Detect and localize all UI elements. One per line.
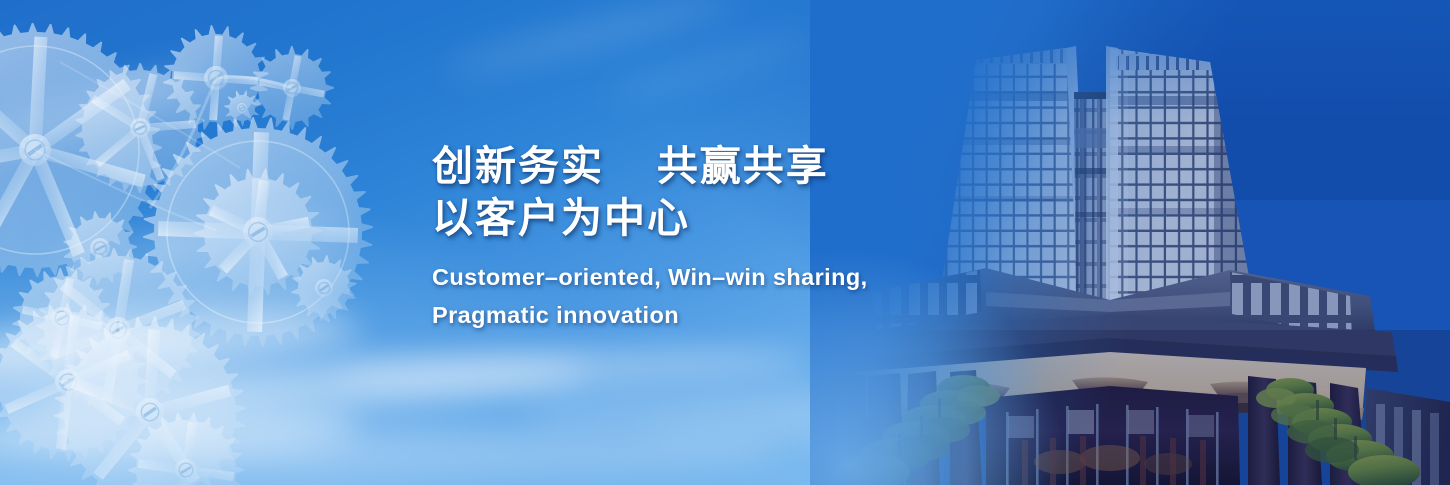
headline-part-2: 共赢共享 xyxy=(657,143,829,189)
headline-line-1: 创新务实 共赢共享 xyxy=(432,140,992,192)
subtitle-line-2: Pragmatic innovation xyxy=(432,296,992,334)
subtitle-line-1: Customer–oriented, Win–win sharing, xyxy=(432,258,992,296)
headline-line-2: 以客户为中心 xyxy=(432,192,992,244)
banner-copy-block: 创新务实 共赢共享 以客户为中心 Customer–oriented, Win–… xyxy=(432,140,992,334)
corporate-hero-banner: 创新务实 共赢共享 以客户为中心 Customer–oriented, Win–… xyxy=(0,0,1450,485)
headline-part-1: 创新务实 xyxy=(432,143,604,189)
